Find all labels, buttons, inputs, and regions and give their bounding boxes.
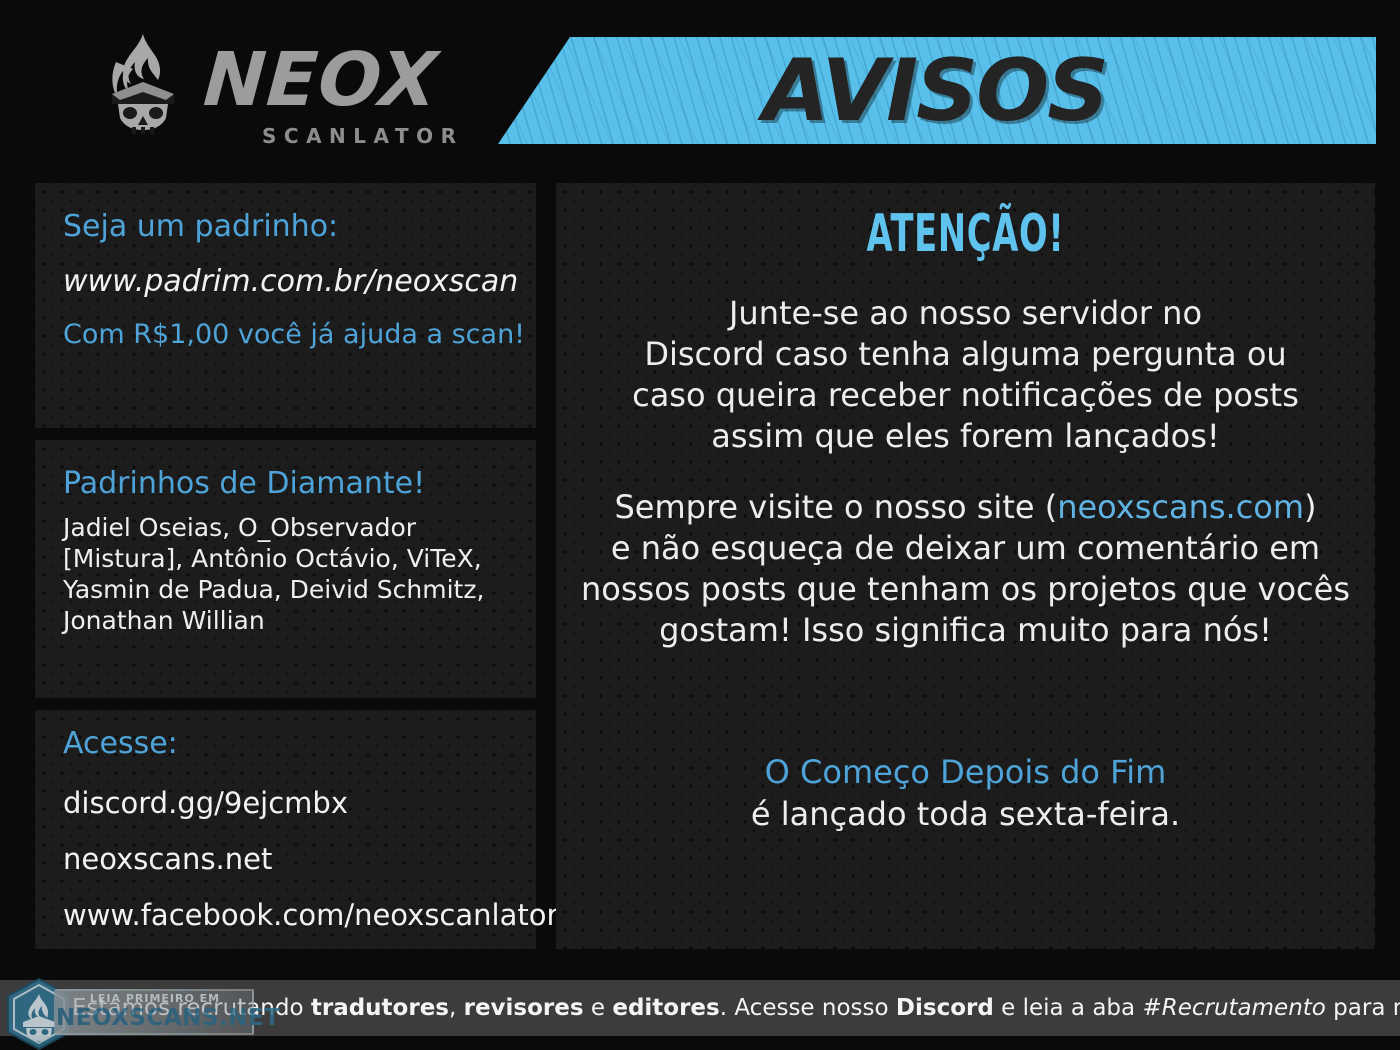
diamante-name-line: Jonathan Willian (63, 605, 536, 636)
footer-seg: . Acesse nosso (720, 995, 896, 1021)
footer-bold-revisores: revisores (464, 995, 584, 1021)
diamante-name-line: [Mistura], Antônio Octávio, ViTeX, (63, 543, 536, 574)
padrinho-note: Com R$1,00 você já ajuda a scan! (63, 317, 536, 353)
brand-tagline: SCANLATOR (262, 124, 464, 148)
site-visit-pre: Sempre visite o nosso site ( (614, 488, 1057, 526)
link-discord[interactable]: discord.gg/9ejcmbx (63, 788, 536, 818)
page-root: NEOX SCANLATOR AVISOS Seja um padrinho: … (0, 0, 1400, 1050)
footer-bold-editores: editores (612, 995, 719, 1021)
atencao-paragraph-line: assim que eles forem lançados! (556, 416, 1375, 457)
panel-atencao: ATENÇÃO! Junte-se ao nosso servidor no D… (556, 183, 1375, 949)
atencao-paragraph-line: e não esqueça de deixar um comentário em (556, 528, 1375, 569)
footer-seg: e leia a aba (994, 995, 1143, 1021)
footer-seg: para mais informações! (1326, 995, 1400, 1021)
atencao-paragraph-line: gostam! Isso significa muito para nós! (556, 610, 1375, 651)
site-visit-post: ) (1304, 488, 1316, 526)
footer-seg: , (449, 995, 464, 1021)
header: NEOX SCANLATOR AVISOS (0, 0, 1400, 170)
banner-title: AVISOS (498, 37, 1376, 144)
footer-seg: e (584, 995, 613, 1021)
atencao-paragraph-line: nossos posts que tenham os projetos que … (556, 569, 1375, 610)
diamante-heading: Padrinhos de Diamante! (63, 466, 536, 502)
site-link[interactable]: neoxscans.com (1057, 488, 1304, 526)
atencao-paragraph-line: caso queira receber notificações de post… (556, 375, 1375, 416)
watermark-line-1: LEIA PRIMEIRO EM (66, 992, 244, 1005)
panel-seja-um-padrinho: Seja um padrinho: www.padrim.com.br/neox… (35, 183, 536, 428)
site-visit-line: Sempre visite o nosso site (neoxscans.co… (556, 487, 1375, 528)
brand-name: NEOX (201, 40, 440, 120)
project-title: O Começo Depois do Fim (556, 751, 1375, 793)
padrinho-heading: Seja um padrinho: (63, 209, 536, 245)
footer-bold-discord: Discord (896, 995, 994, 1021)
project-schedule: é lançado toda sexta-feira. (556, 793, 1375, 835)
brand-logo: NEOX SCANLATOR (88, 32, 518, 152)
footer-italic-recrutamento: #Recrutamento (1142, 995, 1325, 1021)
atencao-paragraph-line: Discord caso tenha alguma pergunta ou (556, 334, 1375, 375)
flaming-skull-icon (88, 32, 198, 140)
diamante-name-line: Jadiel Oseias, O_Observador (63, 512, 536, 543)
diamante-name-line: Yasmin de Padua, Deivid Schmitz, (63, 574, 536, 605)
atencao-title: ATENÇÃO! (671, 205, 1261, 263)
avisos-banner: AVISOS (498, 37, 1376, 144)
panel-padrinhos-diamante: Padrinhos de Diamante! Jadiel Oseias, O_… (35, 440, 536, 698)
site-watermark: LEIA PRIMEIRO EM NEOXSCANS.NET (4, 972, 264, 1050)
atencao-paragraph-line: Junte-se ao nosso servidor no (556, 293, 1375, 334)
padrim-url[interactable]: www.padrim.com.br/neoxscan (63, 263, 536, 301)
watermark-line-2: NEOXSCANS.NET (56, 1005, 254, 1031)
link-site[interactable]: neoxscans.net (63, 844, 536, 874)
footer-bold-tradutores: tradutores (311, 995, 449, 1021)
link-facebook[interactable]: www.facebook.com/neoxscanlator/ (63, 900, 536, 930)
panel-acesse: Acesse: discord.gg/9ejcmbx neoxscans.net… (35, 710, 536, 949)
acesse-heading: Acesse: (63, 726, 536, 762)
